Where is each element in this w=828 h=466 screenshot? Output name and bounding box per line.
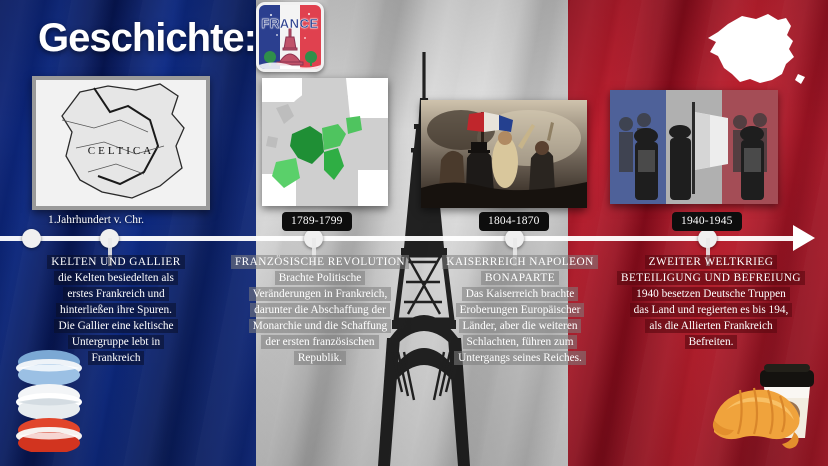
event-text-2: FRANZÖSISCHE REVOLUTION Brachte Politisc… <box>222 254 418 366</box>
sticker-label: FRANCE <box>259 16 321 31</box>
event-image-1: CELTICA <box>32 76 210 210</box>
macarons-icon <box>6 348 92 452</box>
france-map-icon <box>694 8 818 90</box>
event-heading-2: FRANZÖSISCHE REVOLUTION <box>231 255 409 269</box>
event-image-2 <box>262 78 388 206</box>
svg-text:CELTICA: CELTICA <box>88 145 154 157</box>
event-date-4: 1940-1945 <box>672 212 742 231</box>
france-sticker: FRANCE <box>256 2 324 72</box>
event-text-3: KAISERREICH NAPOLEON BONAPARTE Das Kaise… <box>425 254 615 366</box>
sticker-eiffel-icon <box>259 5 321 69</box>
slide-canvas: Geschichte: <box>0 0 828 466</box>
timeline-dot-start[interactable] <box>22 229 41 248</box>
event-date-3: 1804-1870 <box>479 212 549 231</box>
event-date-2: 1789-1799 <box>282 212 352 231</box>
timeline-line <box>0 236 800 241</box>
event-heading-4: ZWEITER WELTKRIEG <box>645 255 778 269</box>
event-date-1: 1.Jahrhundert v. Chr. <box>48 214 144 226</box>
croissant-coffee-icon <box>706 356 824 460</box>
event-heading-1: KELTEN UND GALLIER <box>47 255 184 269</box>
page-title: Geschichte: <box>38 16 256 61</box>
event-image-3 <box>421 100 587 208</box>
event-text-4: ZWEITER WELTKRIEG BETEILIGUNG UND BEFREI… <box>608 254 814 350</box>
event-heading-3: KAISERREICH NAPOLEON <box>442 255 597 269</box>
arrow-right-icon <box>793 225 815 251</box>
event-image-4 <box>610 90 778 204</box>
